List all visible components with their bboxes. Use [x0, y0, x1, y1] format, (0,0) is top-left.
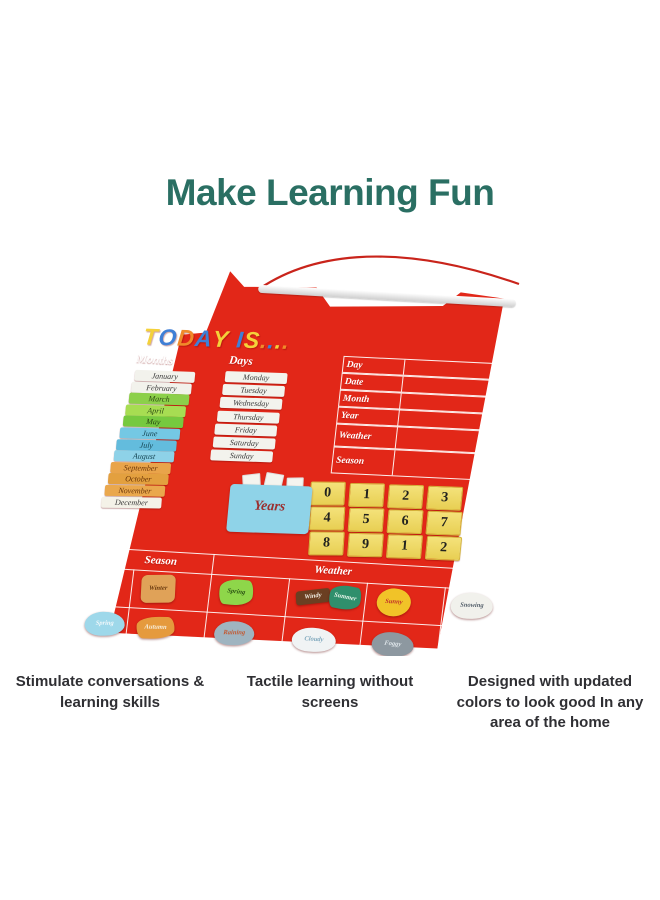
info-row-label: Date [344, 376, 364, 387]
today-letter: . [281, 328, 291, 355]
today-info-grid: DayDateMonthYearWeatherSeason [331, 356, 496, 481]
month-card[interactable]: June [119, 427, 180, 440]
info-row-label: Day [346, 360, 363, 371]
day-card[interactable]: Tuesday [222, 384, 285, 397]
month-card[interactable]: September [110, 462, 171, 474]
day-card[interactable]: Sunday [210, 450, 273, 463]
day-card[interactable]: Friday [215, 423, 278, 436]
calendar-content: TODAY IS.... Months Days JanuaryFebruary… [75, 298, 518, 656]
month-card[interactable]: March [128, 393, 189, 406]
info-row-divider [403, 360, 406, 375]
number-tile[interactable]: 2 [425, 536, 462, 561]
season-header: Season [144, 554, 178, 568]
info-row-label: Year [341, 410, 360, 421]
days-header: Days [228, 355, 253, 368]
day-card[interactable]: Thursday [217, 410, 280, 423]
info-row-divider [397, 411, 400, 426]
caption-1: Stimulate conversations & learning skill… [0, 672, 220, 734]
number-tile[interactable]: 2 [387, 484, 424, 509]
felt-piece[interactable]: Spring [84, 612, 126, 636]
number-tile[interactable]: 5 [348, 508, 385, 532]
info-row-divider [395, 427, 398, 448]
day-card[interactable]: Wednesday [220, 397, 283, 410]
number-tile[interactable]: 0 [309, 482, 346, 506]
month-card[interactable]: July [116, 439, 177, 451]
felt-piece[interactable]: Sunny [375, 587, 412, 617]
product-photo: TODAY IS.... Months Days JanuaryFebruary… [0, 236, 660, 656]
panel-divider [436, 587, 447, 656]
feature-captions: Stimulate conversations & learning skill… [0, 672, 660, 734]
number-tile[interactable]: 9 [347, 533, 384, 557]
felt-piece[interactable]: Autumn [136, 616, 176, 639]
info-row-label: Season [336, 455, 365, 466]
month-card[interactable]: August [113, 450, 174, 462]
info-row[interactable]: Season [331, 446, 486, 480]
felt-piece[interactable]: Raining [213, 621, 255, 645]
felt-piece[interactable]: Winter [140, 575, 176, 603]
info-row-label: Month [342, 393, 369, 404]
month-card[interactable]: October [107, 473, 168, 485]
months-header: Months [136, 353, 174, 367]
number-tiles: 012345678912 [303, 481, 481, 565]
number-tile[interactable]: 1 [348, 483, 385, 507]
number-tile[interactable]: 3 [426, 486, 463, 511]
years-label: Years [228, 498, 312, 517]
number-tile[interactable]: 6 [386, 509, 423, 534]
product-infographic: Make Learning Fun TODAY IS.... Months Da… [0, 0, 660, 900]
day-card[interactable]: Monday [225, 371, 288, 384]
info-row-divider [399, 394, 402, 409]
felt-piece[interactable]: Cloudy [290, 627, 337, 653]
weather-header: Weather [314, 564, 353, 578]
info-row-divider [401, 377, 404, 392]
page-title: Make Learning Fun [0, 172, 660, 214]
month-card[interactable]: November [104, 485, 165, 497]
number-tile[interactable]: 7 [425, 511, 462, 536]
month-card[interactable]: May [122, 416, 183, 429]
caption-3: Designed with updated colors to look goo… [440, 672, 660, 734]
panel-divider [202, 554, 215, 652]
day-card[interactable]: Saturday [212, 436, 275, 449]
today-is-title: TODAY IS.... [142, 324, 291, 355]
felt-piece[interactable]: Foggy [370, 631, 415, 656]
info-row-label: Weather [338, 430, 372, 441]
number-tile[interactable]: 1 [386, 534, 423, 559]
felt-piece[interactable]: Summer [326, 583, 363, 613]
felt-piece[interactable]: Spring [217, 578, 255, 607]
caption-2: Tactile learning without screens [220, 672, 440, 734]
number-tile[interactable]: 8 [308, 531, 345, 555]
month-card[interactable]: January [134, 370, 195, 383]
month-card[interactable]: December [101, 496, 162, 508]
felt-piece[interactable]: Windy [296, 588, 331, 606]
years-pocket[interactable]: Years [226, 484, 313, 534]
number-tile[interactable]: 4 [309, 506, 346, 530]
panel-divider [84, 645, 473, 656]
info-row-divider [392, 450, 396, 475]
